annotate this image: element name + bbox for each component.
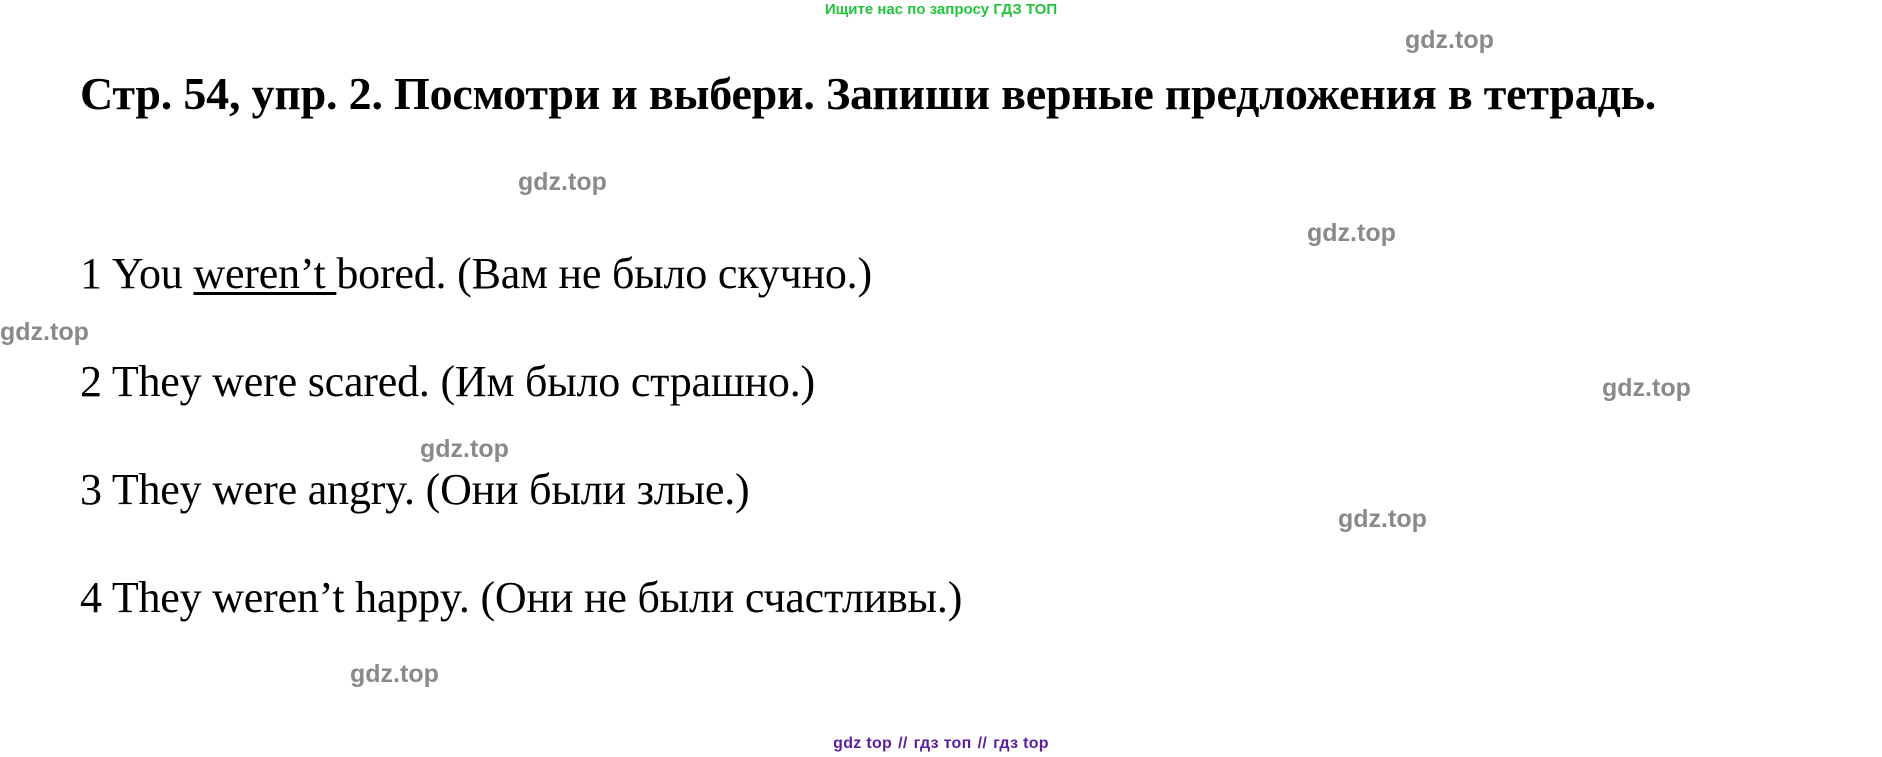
footer-link-gdz-top-mixed[interactable]: гдз top xyxy=(993,735,1049,752)
answer-number-2: 2 xyxy=(80,357,102,406)
footer-separator-2: // xyxy=(978,735,988,752)
answer-item-4: 4They weren’t happy. (Они не были счастл… xyxy=(80,572,962,624)
answer-text-1-after: bored. (Вам не было скучно.) xyxy=(336,249,872,298)
answer-number-3: 3 xyxy=(80,465,102,514)
exercise-content: Стр. 54, упр. 2. Посмотри и выбери. Запи… xyxy=(0,0,1882,757)
answer-number-1: 1 xyxy=(80,249,102,298)
answer-item-2: 2They were scared. (Им было страшно.) xyxy=(80,356,815,408)
footer-links: gdz top//гдз топ//гдз top xyxy=(0,735,1882,753)
footer-separator-1: // xyxy=(898,735,908,752)
answer-item-1: 1You weren’t bored. (Вам не было скучно.… xyxy=(80,248,872,300)
answer-text-2: They were scared. (Им было страшно.) xyxy=(112,357,815,406)
answer-text-1-before: You xyxy=(112,249,194,298)
answer-text-4: They weren’t happy. (Они не были счастли… xyxy=(112,573,962,622)
answer-item-3: 3They were angry. (Они были злые.) xyxy=(80,464,750,516)
footer-link-gdz-top-latin[interactable]: gdz top xyxy=(833,735,892,752)
answer-underlined-1: weren’t xyxy=(193,249,336,298)
answer-number-4: 4 xyxy=(80,573,102,622)
answer-text-3: They were angry. (Они были злые.) xyxy=(112,465,750,514)
page-title: Стр. 54, упр. 2. Посмотри и выбери. Запи… xyxy=(80,62,1850,126)
footer-link-gdz-top-cyrillic[interactable]: гдз топ xyxy=(914,735,972,752)
